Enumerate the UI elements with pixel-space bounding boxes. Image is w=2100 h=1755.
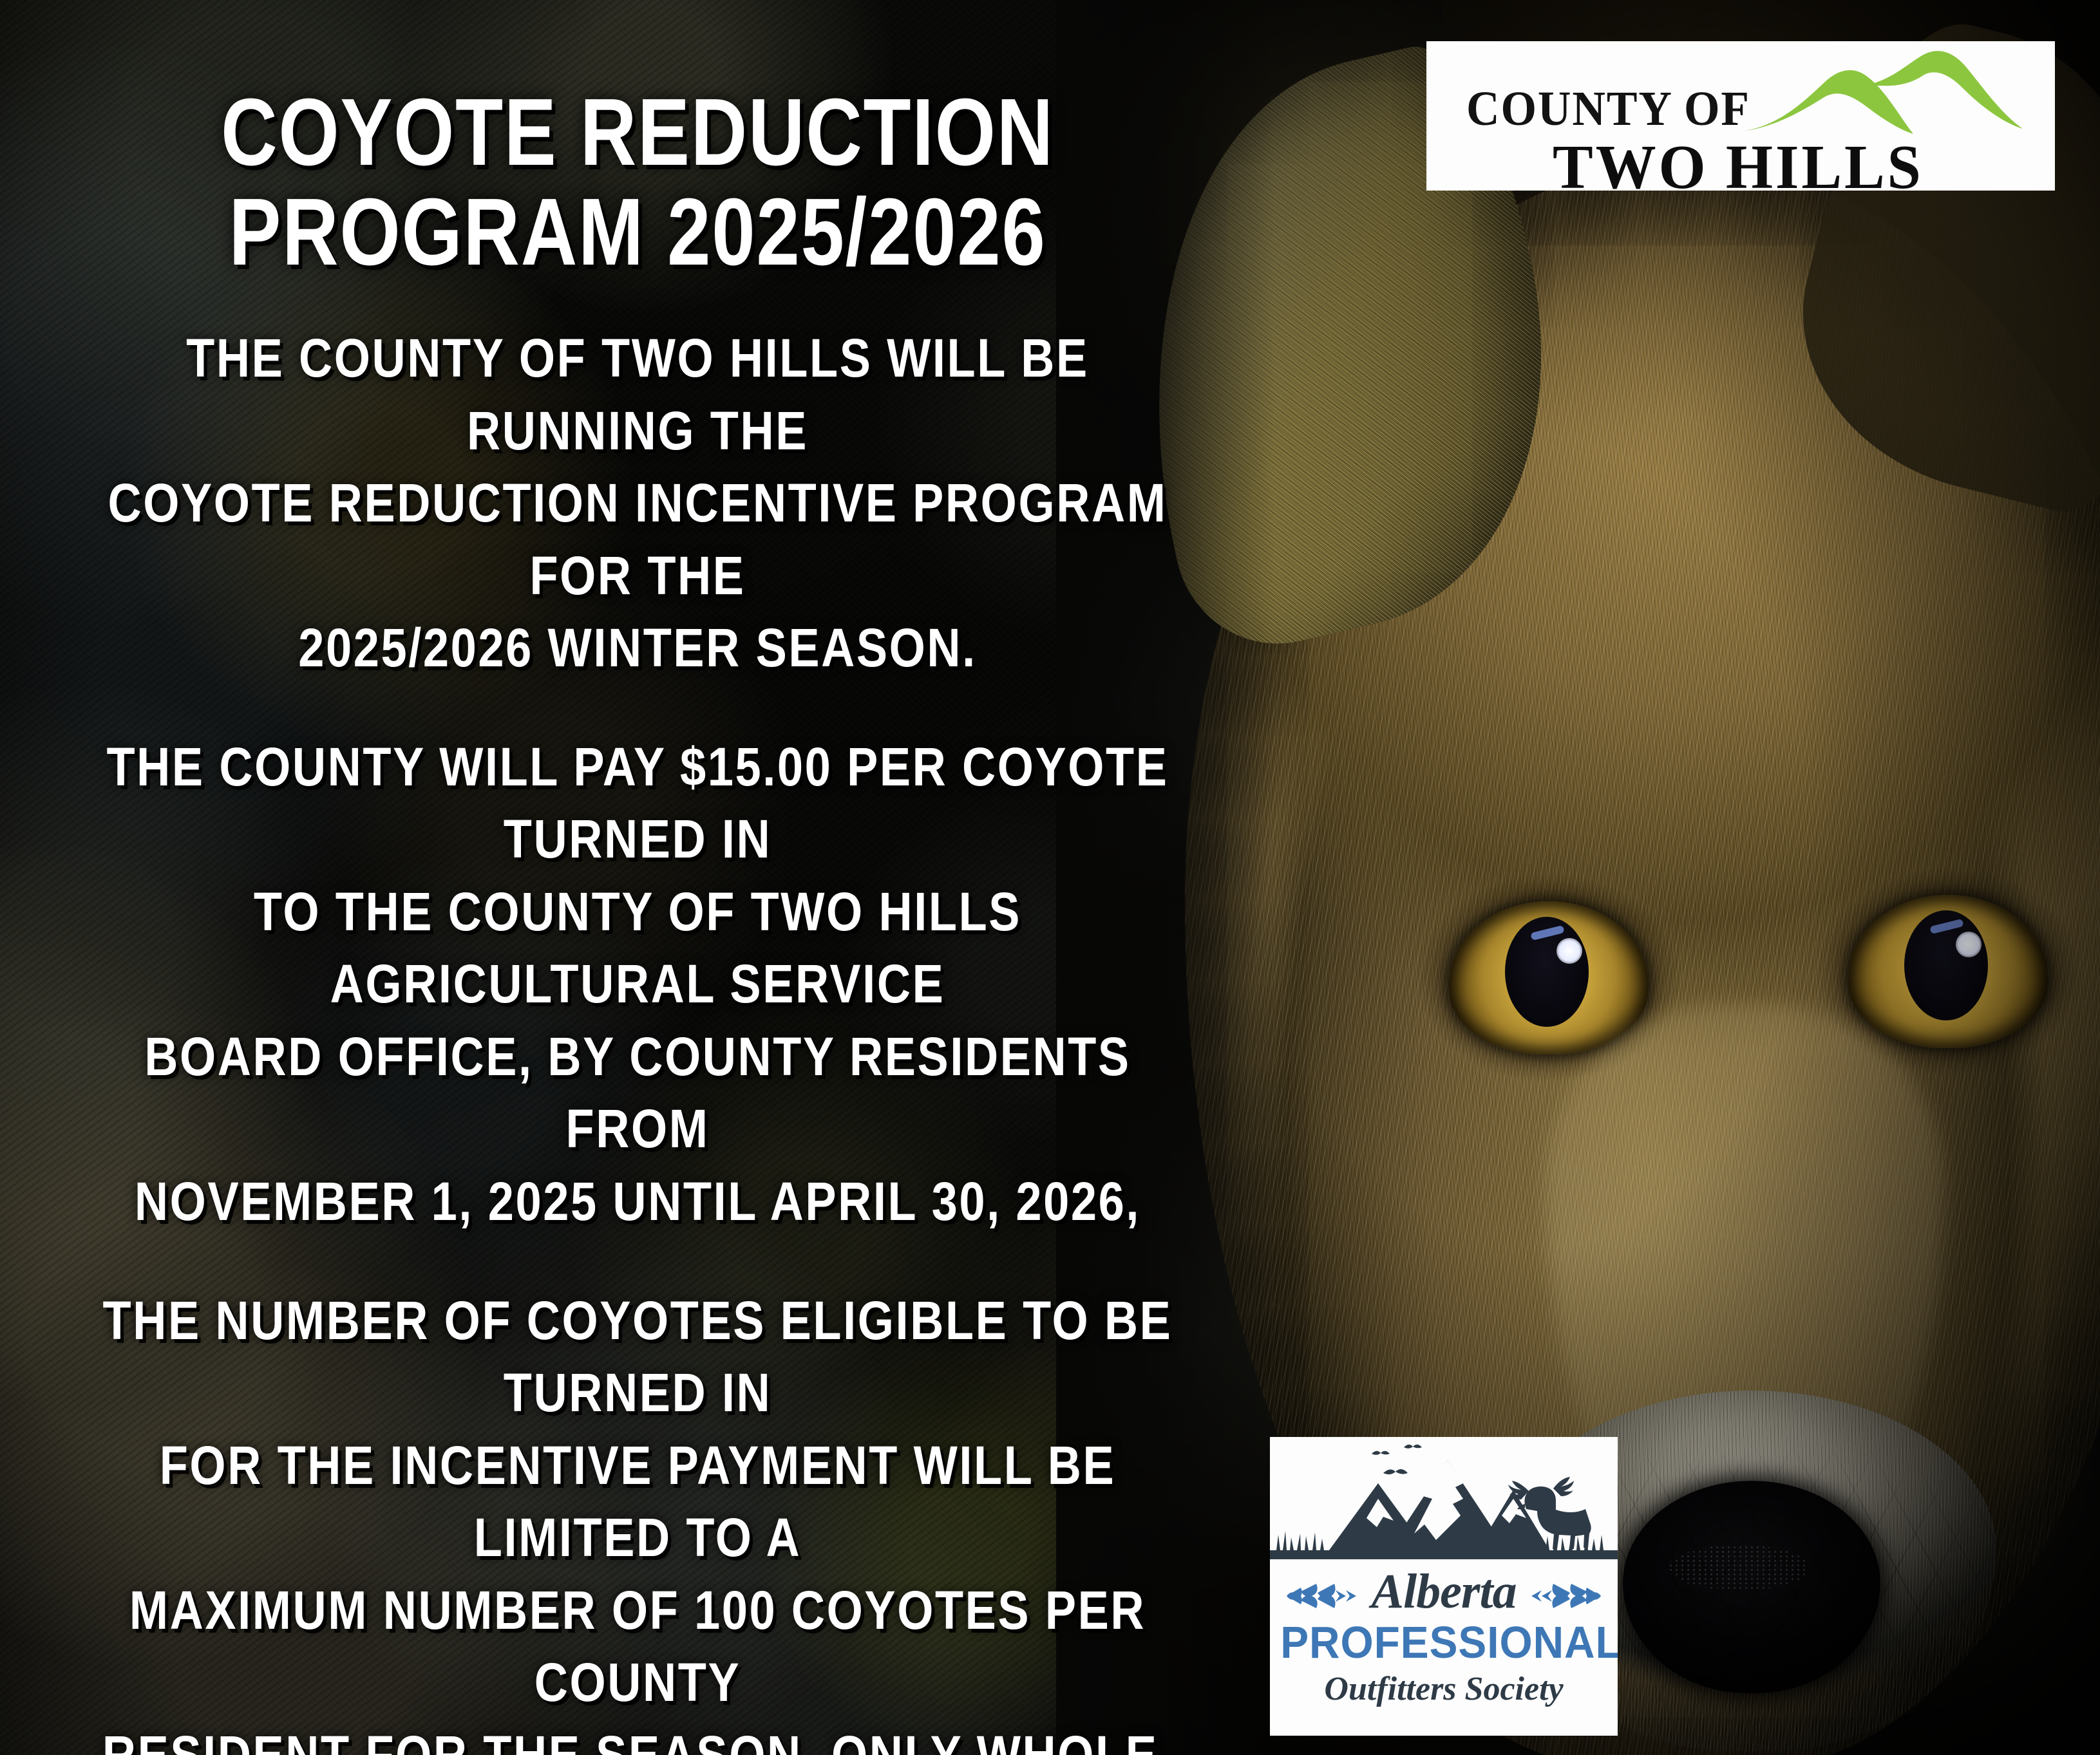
coyote-right-eye xyxy=(1848,895,2048,1048)
apos-wordmark: Alberta PROFESSIONAL Outfitters Society xyxy=(1270,1564,1618,1736)
poster-text-column: COYOTE REDUCTION PROGRAM 2025/2026 THE C… xyxy=(0,0,1275,1755)
eye-iris xyxy=(1848,895,2048,1048)
apos-sub-name: Outfitters Society xyxy=(1270,1673,1618,1706)
poster-canvas: COYOTE REDUCTION PROGRAM 2025/2026 THE C… xyxy=(0,0,2100,1755)
county-logo-line1: COUNTY OF xyxy=(1466,81,1750,137)
page-title: COYOTE REDUCTION PROGRAM 2025/2026 xyxy=(115,82,1160,283)
poster-body: THE COUNTY OF TWO HILLS WILL BE RUNNING … xyxy=(0,322,1275,1755)
two-hills-icon xyxy=(1741,49,2043,157)
county-of-two-hills-logo: COUNTY OF TWO HILLS xyxy=(1426,41,2055,191)
eye-iris xyxy=(1449,901,1649,1055)
paragraph-payment: THE COUNTY WILL PAY $15.00 PER COYOTE TU… xyxy=(90,731,1186,1238)
coyote-left-eye xyxy=(1449,901,1649,1055)
apos-block-name: PROFESSIONAL xyxy=(1280,1620,1607,1665)
apos-script-name: Alberta xyxy=(1270,1567,1618,1616)
paragraph-intro: THE COUNTY OF TWO HILLS WILL BE RUNNING … xyxy=(90,322,1186,684)
alberta-professional-outfitters-society-logo: Alberta PROFESSIONAL Outfitters Society xyxy=(1270,1437,1618,1736)
paragraph-limits: THE NUMBER OF COYOTES ELIGIBLE TO BE TUR… xyxy=(90,1284,1186,1755)
mountains-moose-icon xyxy=(1270,1437,1618,1566)
